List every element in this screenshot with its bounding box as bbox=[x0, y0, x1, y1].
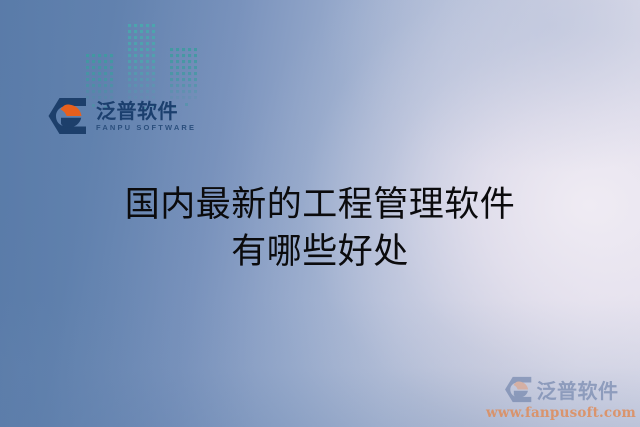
fanpu-hexagon-mark-icon bbox=[47, 97, 87, 135]
watermark-logo: 泛普软件 bbox=[504, 375, 619, 404]
watermark-url: www.fanpusoft.com bbox=[486, 405, 636, 421]
brand-logo: 泛普软件 FANPU SOFTWARE bbox=[47, 97, 196, 135]
site-watermark: 泛普软件 www.fanpusoft.com bbox=[487, 375, 635, 421]
brand-name-en: FANPU SOFTWARE bbox=[96, 124, 196, 132]
poster-canvas: 泛普软件 FANPU SOFTWARE 国内最新的工程管理软件 有哪些好处 泛普… bbox=[0, 0, 640, 427]
brand-wordmark: 泛普软件 FANPU SOFTWARE bbox=[96, 101, 196, 132]
watermark-name-cn: 泛普软件 bbox=[537, 375, 619, 404]
page-title-line-2: 有哪些好处 bbox=[0, 229, 640, 276]
brand-name-cn: 泛普软件 bbox=[96, 101, 196, 121]
page-title: 国内最新的工程管理软件 有哪些好处 bbox=[0, 182, 640, 275]
page-title-line-1: 国内最新的工程管理软件 bbox=[0, 182, 640, 229]
fanpu-hexagon-mark-watermark-icon bbox=[504, 376, 532, 403]
